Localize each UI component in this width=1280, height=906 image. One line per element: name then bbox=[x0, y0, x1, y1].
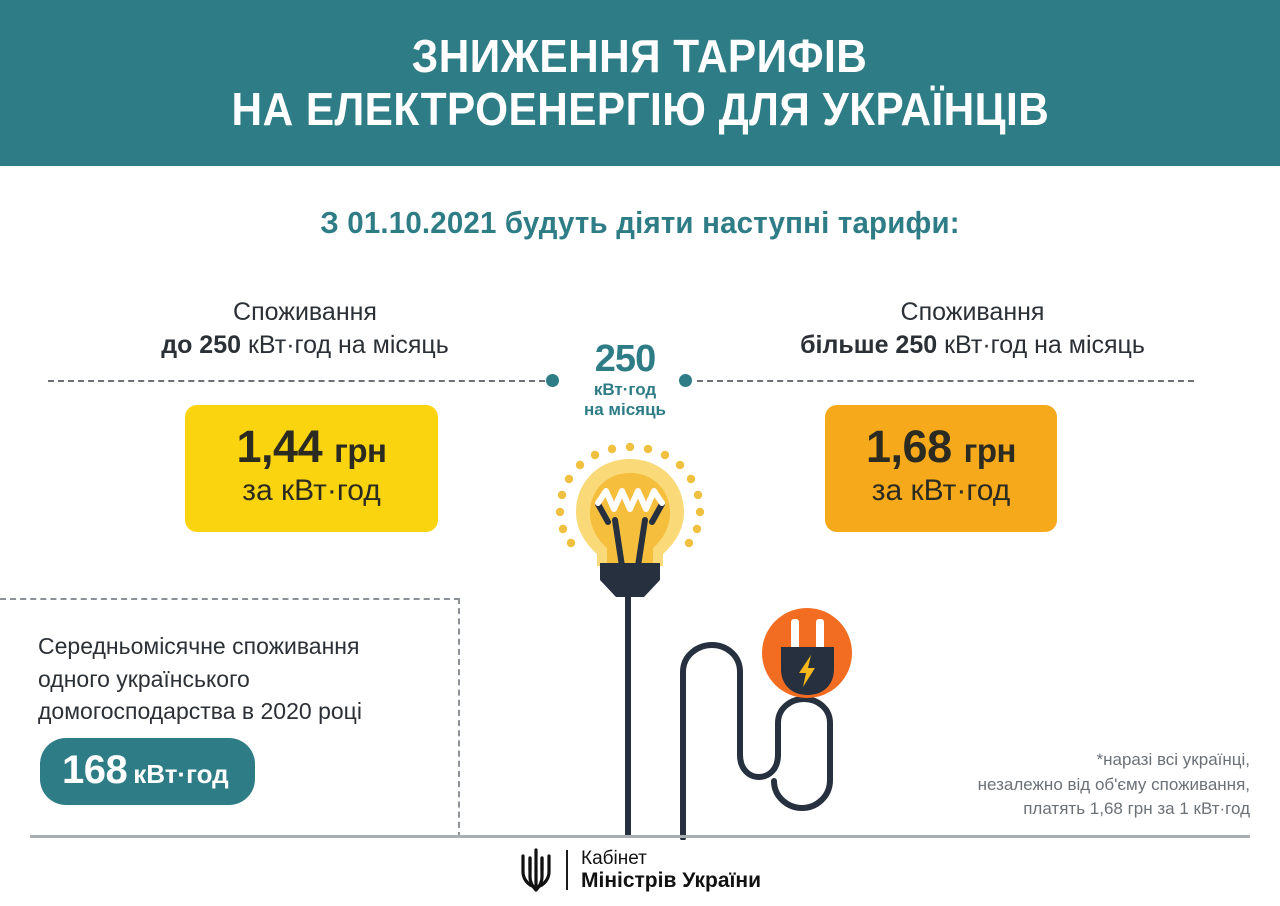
tariff-right-unit: кВт·год на місяць bbox=[937, 331, 1145, 359]
power-plug-icon bbox=[755, 605, 860, 715]
average-box-text-line1: Середньомісячне споживання bbox=[38, 630, 438, 663]
logo-text-line2: Міністрів України bbox=[581, 869, 761, 893]
tariff-left-price-value: 1,44 bbox=[237, 421, 323, 472]
average-box-right-border bbox=[458, 598, 460, 838]
page-header: ЗНИЖЕННЯ ТАРИФІВ НА ЕЛЕКТРОЕНЕРГІЮ ДЛЯ У… bbox=[0, 0, 1280, 166]
footnote-line2: незалежно від об'єму споживання, bbox=[860, 773, 1250, 798]
subtitle: З 01.10.2021 будуть діяти наступні тариф… bbox=[32, 205, 1248, 241]
tariff-right-caption-line2: більше 250 кВт·год на місяць bbox=[700, 329, 1245, 362]
average-box-text-line2: одного українського bbox=[38, 663, 438, 696]
footnote-line1: *наразі всі українці, bbox=[860, 748, 1250, 773]
tariff-left-price: 1,44 грн bbox=[185, 423, 438, 470]
average-consumption-value: 168 bbox=[62, 748, 127, 792]
footer-logo: Кабінет Міністрів України bbox=[0, 848, 1280, 893]
average-box-text: Середньомісячне споживання одного україн… bbox=[38, 630, 438, 728]
tariff-right-badge: 1,68 грн за кВт·год bbox=[825, 405, 1057, 532]
tariff-right-caption: Споживання більше 250 кВт·год на місяць bbox=[700, 296, 1245, 363]
threshold-marker-unit-2: на місяць bbox=[555, 400, 695, 420]
tariff-right-price: 1,68 грн bbox=[825, 423, 1057, 470]
tariff-right-caption-line1: Споживання bbox=[700, 296, 1245, 329]
logo-text: Кабінет Міністрів України bbox=[581, 848, 761, 893]
footnote-line3: платять 1,68 грн за 1 кВт·год bbox=[860, 797, 1250, 822]
tariff-left-unit: кВт·год на місяць bbox=[241, 331, 449, 359]
tariff-right-column: Споживання більше 250 кВт·год на місяць bbox=[700, 296, 1245, 363]
tariff-left-per-unit: за кВт·год bbox=[185, 472, 438, 510]
average-box-top-border bbox=[0, 598, 460, 600]
footer-divider bbox=[30, 835, 1250, 838]
tariff-left-caption: Споживання до 250 кВт·год на місяць bbox=[35, 296, 575, 363]
infographic-page: ЗНИЖЕННЯ ТАРИФІВ НА ЕЛЕКТРОЕНЕРГІЮ ДЛЯ У… bbox=[0, 0, 1280, 906]
logo-separator bbox=[566, 850, 568, 890]
tariff-left-caption-line2: до 250 кВт·год на місяць bbox=[35, 329, 575, 362]
divider-left bbox=[48, 380, 545, 382]
lightbulb-icon bbox=[540, 425, 720, 600]
divider-right bbox=[697, 380, 1194, 382]
page-title-line-2: НА ЕЛЕКТРОЕНЕРГІЮ ДЛЯ УКРАЇНЦІВ bbox=[231, 83, 1049, 136]
footnote: *наразі всі українці, незалежно від об'є… bbox=[860, 748, 1250, 822]
tariff-left-column: Споживання до 250 кВт·год на місяць bbox=[35, 296, 575, 363]
tariff-right-threshold: більше 250 bbox=[800, 331, 937, 359]
threshold-marker-value: 250 bbox=[555, 340, 695, 378]
threshold-marker: 250 кВт·год на місяць bbox=[555, 340, 695, 421]
average-box-text-line3: домогосподарства в 2020 році bbox=[38, 695, 438, 728]
threshold-marker-unit-1: кВт·год bbox=[555, 380, 695, 400]
tariff-left-badge: 1,44 грн за кВт·год bbox=[185, 405, 438, 532]
average-consumption-unit: кВт·год bbox=[133, 759, 228, 789]
page-title-line-1: ЗНИЖЕННЯ ТАРИФІВ bbox=[412, 30, 867, 83]
average-consumption-pill: 168кВт·год bbox=[40, 738, 255, 805]
tariff-left-currency: грн bbox=[334, 432, 386, 469]
tariff-left-threshold: до 250 bbox=[161, 331, 241, 359]
logo-text-line1: Кабінет bbox=[581, 848, 761, 869]
tariff-left-caption-line1: Споживання bbox=[35, 296, 575, 329]
tariff-right-currency: грн bbox=[964, 432, 1016, 469]
trident-icon bbox=[519, 848, 553, 892]
tariff-right-per-unit: за кВт·год bbox=[825, 472, 1057, 510]
tariff-right-price-value: 1,68 bbox=[866, 421, 952, 472]
lamp-stem bbox=[625, 575, 631, 838]
